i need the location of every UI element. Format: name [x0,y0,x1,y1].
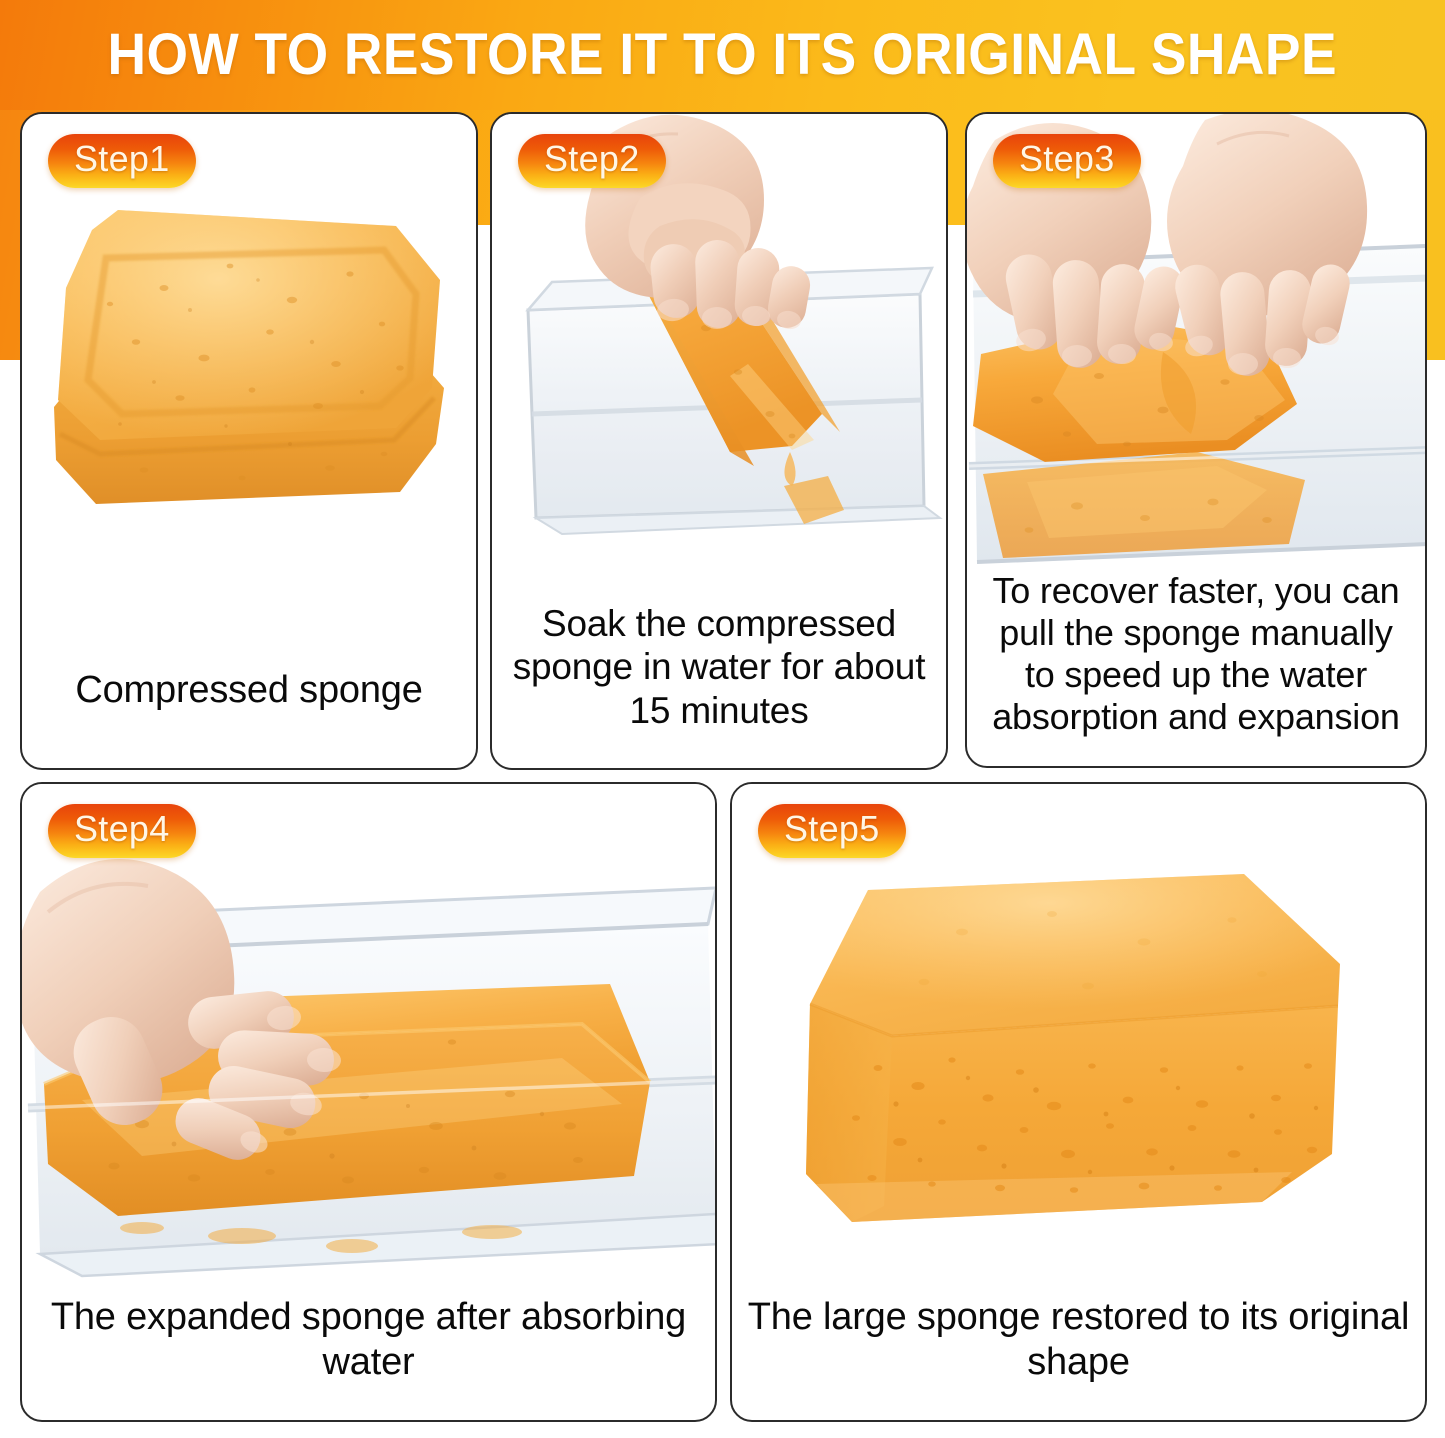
page-title: HOW TO RESTORE IT TO ITS ORIGINAL SHAPE [108,26,1338,84]
step4-photo [22,784,715,1324]
step-caption-4: The expanded sponge after absorbing wate… [36,1295,701,1384]
soak-sponge-scene [492,114,946,619]
step-card-2: Step2 Soak the compressed sponge in wate… [490,112,948,770]
step1-photo [22,114,476,674]
compressed-sponge-image [44,192,454,522]
step2-photo [492,114,946,619]
step-card-1: Step1 Compressed sponge [20,112,478,770]
step-card-5: Step5 The large sponge restored to its o… [730,782,1427,1422]
step-caption-2: Soak the compressed sponge in water for … [506,602,932,732]
restored-sponge-image [792,854,1362,1254]
step5-photo [732,784,1425,1329]
step-badge-4: Step4 [48,804,196,858]
step-caption-1: Compressed sponge [36,668,462,712]
expanded-sponge-scene [22,784,715,1324]
step-badge-3: Step3 [993,134,1141,188]
step-card-4: Step4 The expanded sponge after absorbin… [20,782,717,1422]
step-caption-5: The large sponge restored to its origina… [746,1295,1411,1384]
step-badge-5: Step5 [758,804,906,858]
page-header: HOW TO RESTORE IT TO ITS ORIGINAL SHAPE [0,0,1445,110]
step-badge-2: Step2 [518,134,666,188]
pull-sponge-scene [967,114,1425,614]
step3-photo [967,114,1425,614]
step-card-3: Step3 To recover faster, you can pull th… [965,112,1427,768]
step-caption-3: To recover faster, you can pull the spon… [981,570,1411,738]
step-badge-1: Step1 [48,134,196,188]
